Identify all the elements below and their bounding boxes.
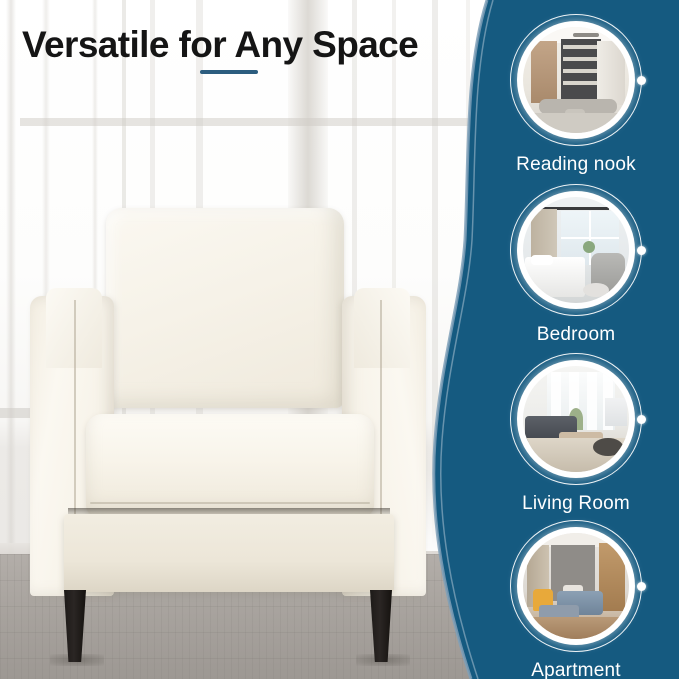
product-infographic: Versatile for Any Space: [0, 0, 679, 679]
ring-dot-icon: [637, 582, 646, 591]
chair-back-cushion: [106, 208, 344, 408]
chair-leg-left: [64, 590, 86, 662]
card-label-bedroom: Bedroom: [476, 324, 676, 346]
card-label-reading-nook: Reading nook: [476, 154, 676, 176]
chair-base-rail: [64, 514, 394, 592]
card-living-room[interactable]: Living Room: [476, 353, 676, 515]
room-type-cards: Reading nook: [479, 0, 679, 679]
chair-seat-cushion: [86, 414, 374, 516]
circle-frame-reading-nook: [510, 14, 642, 146]
card-label-apartment: Apartment: [476, 660, 676, 679]
ring-dot-icon: [637, 76, 646, 85]
card-label-living-room: Living Room: [476, 493, 676, 515]
card-reading-nook[interactable]: Reading nook: [476, 14, 676, 176]
armchair: [28, 196, 428, 656]
card-apartment[interactable]: Apartment: [476, 520, 676, 679]
circle-frame-apartment: [510, 520, 642, 652]
circle-frame-bedroom: [510, 184, 642, 316]
apartment-photo-icon: [523, 533, 629, 639]
versatility-panel: Reading nook: [399, 0, 679, 679]
chair-leg-right: [370, 590, 392, 662]
circle-frame-living-room: [510, 353, 642, 485]
living-room-photo-icon: [523, 366, 629, 472]
chair-seat-welt: [90, 502, 370, 504]
title-underline-accent: [200, 70, 258, 74]
ring-dot-icon: [637, 415, 646, 424]
reading-nook-photo-icon: [523, 27, 629, 133]
ring-dot-icon: [637, 246, 646, 255]
page-title: Versatile for Any Space: [22, 24, 418, 66]
card-bedroom[interactable]: Bedroom: [476, 184, 676, 346]
bedroom-photo-icon: [523, 197, 629, 303]
